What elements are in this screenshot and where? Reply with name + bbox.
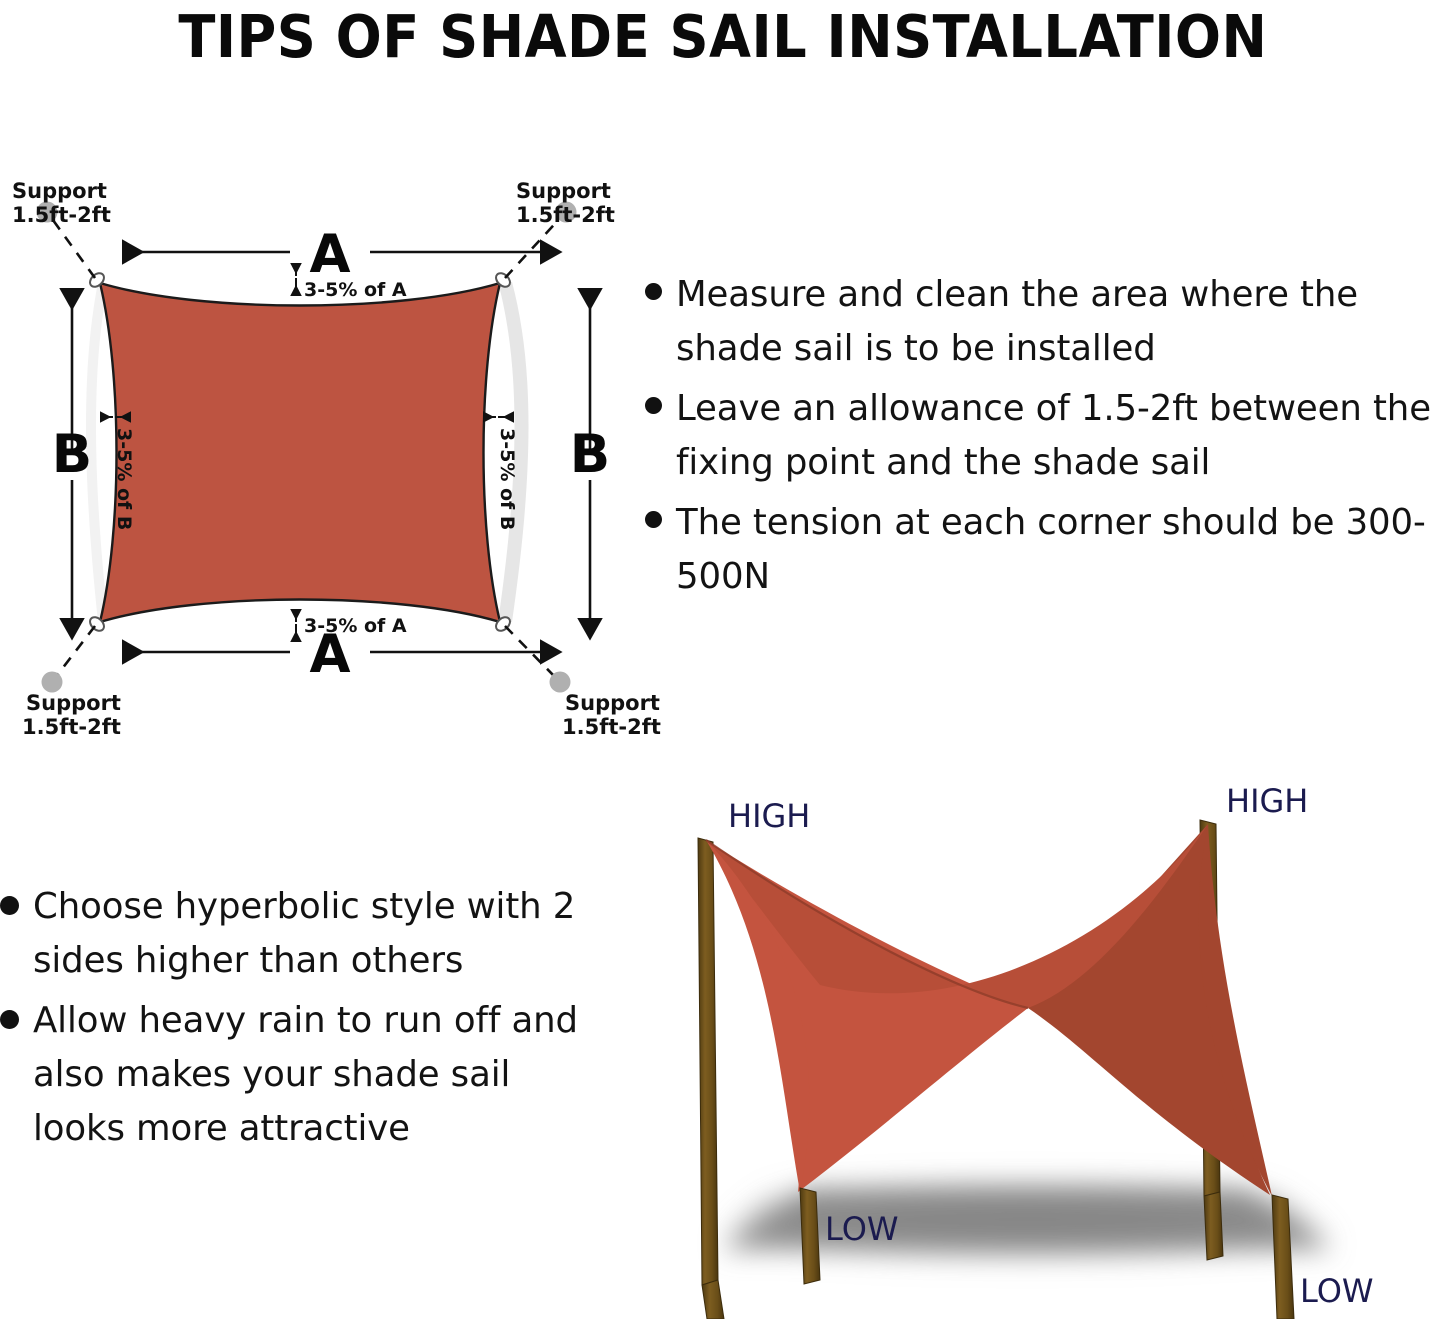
hypar-sail-panel: HIGH HIGH LOW LOW — [660, 780, 1445, 1319]
shade-sail-shape — [100, 283, 500, 622]
post-back-right-base — [1204, 1192, 1223, 1260]
tips-left-list: Choose hyperbolic style with 2 sides hig… — [0, 880, 640, 1156]
dim-label-b-left: B — [52, 424, 92, 485]
tip-text: Allow heavy rain to run off and also mak… — [33, 994, 603, 1156]
tip-text: The tension at each corner should be 300… — [676, 496, 1436, 604]
bullet-icon — [0, 1010, 19, 1029]
bullet-icon — [645, 397, 662, 414]
tips-left-panel: Choose hyperbolic style with 2 sides hig… — [0, 880, 640, 1210]
support-dot-bottom-right — [550, 672, 571, 693]
tension-line-bottom-left — [55, 626, 95, 678]
dim-label-b-right: B — [570, 424, 610, 485]
dim-label-a-top: A — [309, 224, 350, 285]
tip-text: Measure and clean the area where the sha… — [676, 268, 1436, 376]
tip-text: Leave an allowance of 1.5-2ft between th… — [676, 382, 1436, 490]
label-high-left: HIGH — [728, 797, 810, 835]
label-low-right: LOW — [1300, 1272, 1374, 1310]
support-dot-bottom-left — [42, 672, 63, 693]
list-item: Leave an allowance of 1.5-2ft between th… — [645, 382, 1445, 490]
hypar-sail-svg: HIGH HIGH LOW LOW — [660, 780, 1445, 1319]
bullet-icon — [645, 511, 662, 528]
shade-sail-hypar — [706, 824, 1272, 1196]
tips-right-list: Measure and clean the area where the sha… — [645, 268, 1445, 604]
list-item: Measure and clean the area where the sha… — [645, 268, 1445, 376]
bullet-icon — [0, 896, 19, 915]
bullet-icon — [645, 283, 662, 300]
tip-text: Choose hyperbolic style with 2 sides hig… — [33, 880, 603, 988]
page-title: TIPS OF SHADE SAIL INSTALLATION — [178, 7, 1267, 66]
list-item: The tension at each corner should be 300… — [645, 496, 1445, 604]
tips-right-panel: Measure and clean the area where the sha… — [645, 268, 1445, 658]
curve-label-right: 3-5% of B — [496, 428, 518, 530]
list-item: Allow heavy rain to run off and also mak… — [0, 994, 640, 1156]
support-label-bottom-right-line2: 1.5ft-2ft — [562, 715, 661, 739]
curve-label-bottom: 3-5% of A — [304, 615, 407, 637]
sail-surface-back — [1028, 824, 1270, 1195]
support-label-top-right-line1: Support — [516, 179, 611, 203]
support-label-top-left-line2: 1.5ft-2ft — [12, 203, 111, 227]
curve-label-left: 3-5% of B — [113, 428, 135, 530]
curve-label-top: 3-5% of A — [304, 279, 407, 301]
rect-sail-svg: Support 1.5ft-2ft Support 1.5ft-2ft Supp… — [0, 150, 660, 740]
title-bar: TIPS OF SHADE SAIL INSTALLATION — [0, 0, 1445, 72]
list-item: Choose hyperbolic style with 2 sides hig… — [0, 880, 640, 988]
support-label-bottom-right-line1: Support — [565, 691, 660, 715]
support-label-top-left-line1: Support — [12, 179, 107, 203]
post-back-left — [698, 838, 718, 1285]
support-label-bottom-left-line2: 1.5ft-2ft — [22, 715, 121, 739]
support-label-bottom-left-line1: Support — [26, 691, 121, 715]
support-label-top-right-line2: 1.5ft-2ft — [516, 203, 615, 227]
ground-shadow — [695, 1180, 1360, 1260]
label-high-right: HIGH — [1226, 782, 1308, 820]
rectangle-sail-diagram: Support 1.5ft-2ft Support 1.5ft-2ft Supp… — [0, 150, 660, 740]
label-low-left: LOW — [825, 1210, 899, 1248]
post-back-left-base — [702, 1280, 724, 1319]
